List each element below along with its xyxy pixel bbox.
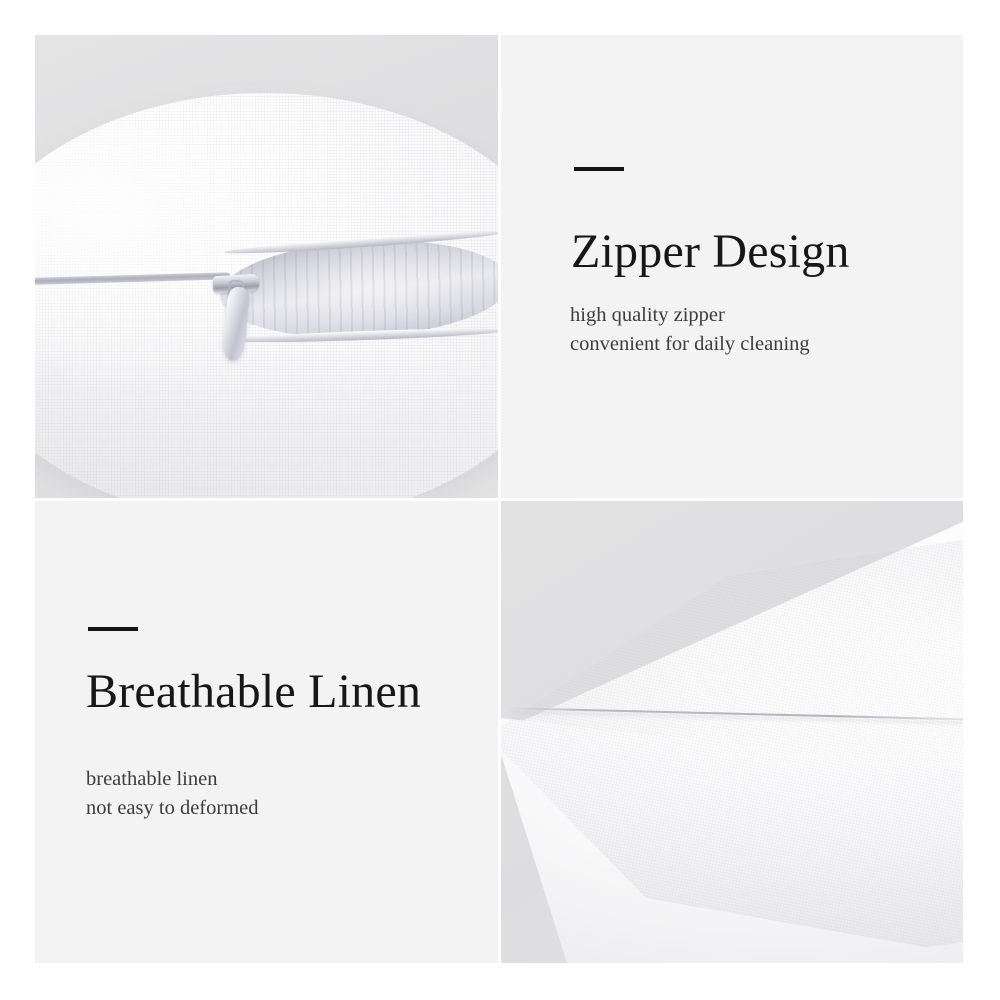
linen-subline-1: breathable linen (86, 765, 259, 794)
zipper-photo-panel (35, 35, 498, 498)
zipper-photo-image (35, 35, 498, 498)
zipper-subline-1: high quality zipper (570, 301, 810, 330)
zipper-rule-dash (574, 167, 624, 171)
linen-subline-2: not easy to deformed (86, 794, 259, 823)
linen-subline-group: breathable linen not easy to deformed (86, 765, 259, 823)
linen-photo-image (501, 501, 963, 963)
zipper-headline: Zipper Design (571, 228, 850, 276)
zipper-text-panel: Zipper Design high quality zipper conven… (501, 35, 963, 498)
zipper-subline-group: high quality zipper convenient for daily… (570, 301, 810, 359)
linen-text-panel: Breathable Linen breathable linen not ea… (35, 501, 498, 963)
infographic-page: Zipper Design high quality zipper conven… (0, 0, 1000, 1000)
zipper-subline-2: convenient for daily cleaning (570, 330, 810, 359)
linen-headline: Breathable Linen (86, 668, 421, 716)
zipper-opening (218, 233, 498, 344)
linen-photo-panel (501, 501, 963, 963)
linen-rule-dash (88, 627, 138, 631)
